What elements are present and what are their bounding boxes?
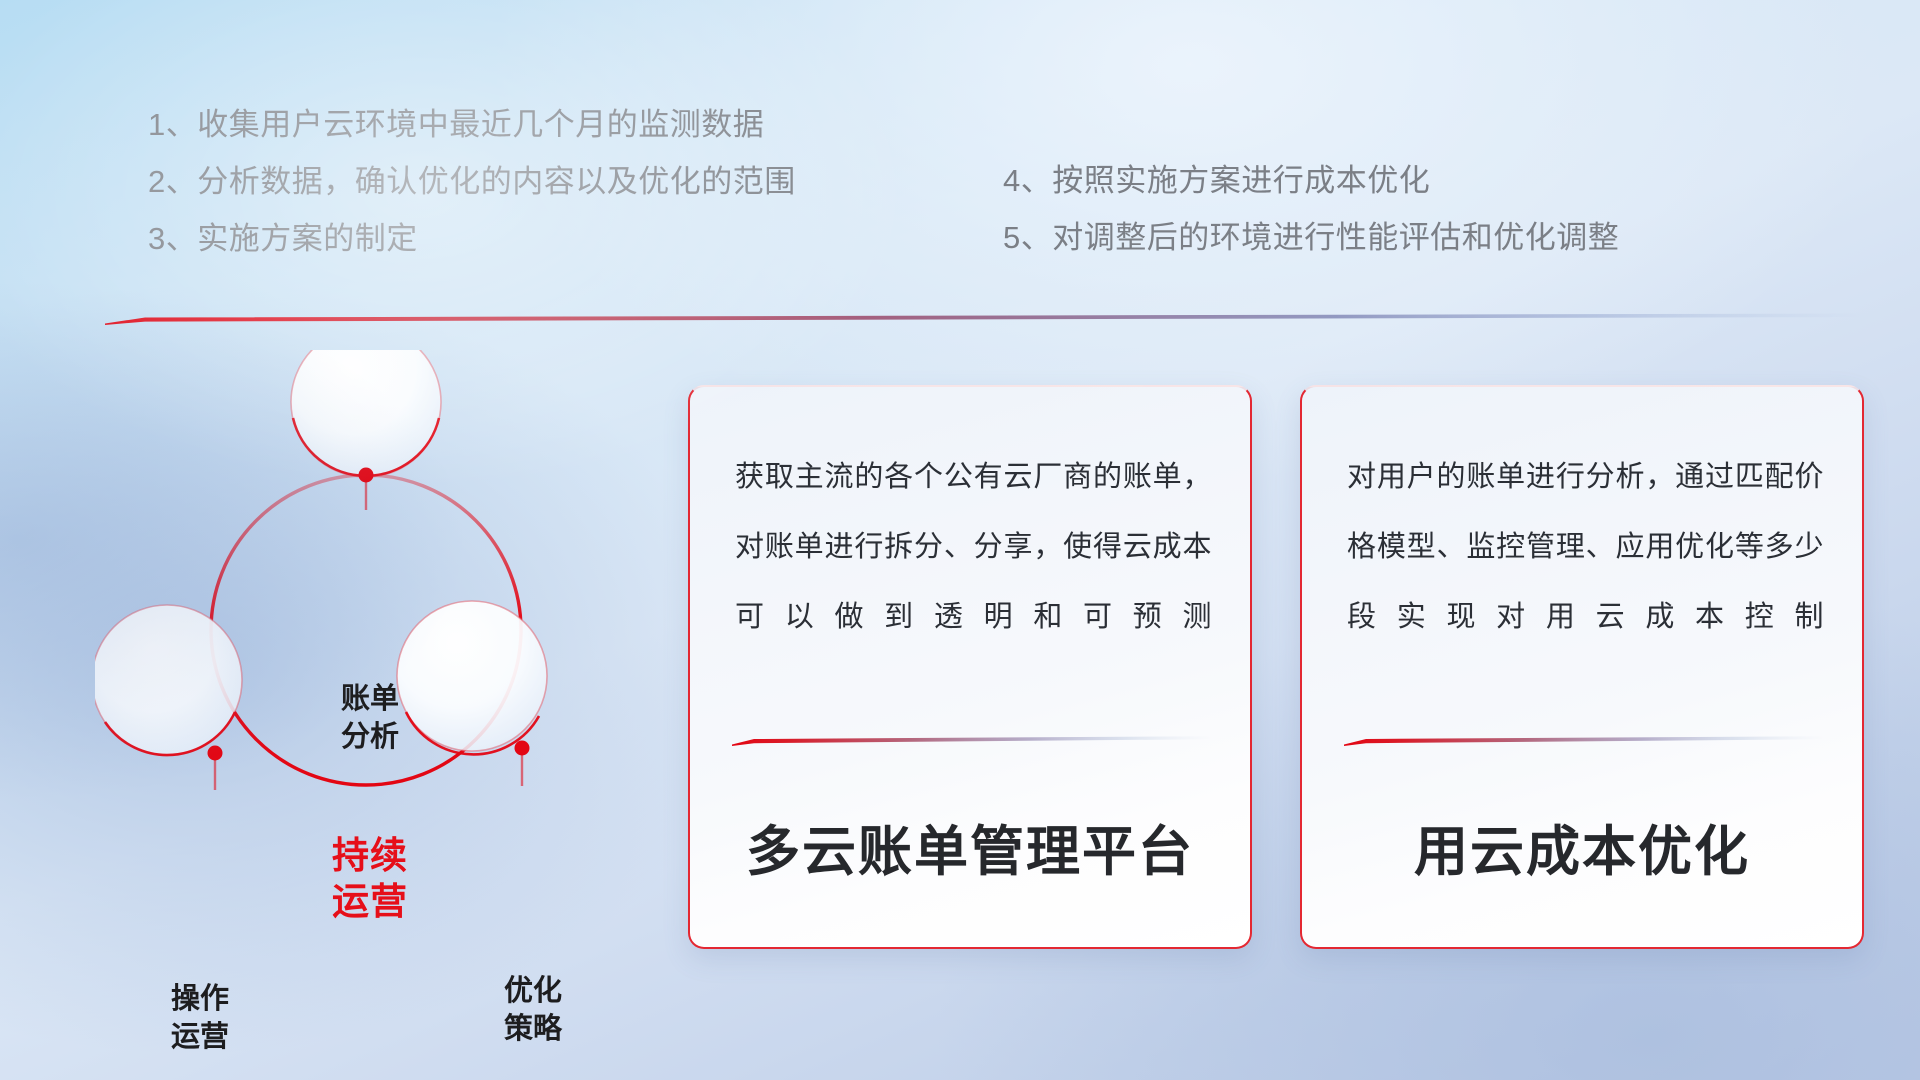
node-dot-top bbox=[359, 468, 374, 483]
bubble-label-ops-operation: 操作 运营 bbox=[125, 980, 275, 1056]
step-item-4: 4、按照实施方案进行成本优化 bbox=[1003, 152, 1619, 209]
card-body-text: 获取主流的各个公有云厂商的账单，对账单进行拆分、分享，使得云成本可以做到透明和可… bbox=[735, 442, 1212, 652]
slide-canvas: 1、收集用户云环境中最近几个月的监测数据 2、分析数据，确认优化的内容以及优化的… bbox=[0, 0, 1920, 1080]
bubble-label-opt-strategy: 优化 策略 bbox=[458, 972, 608, 1048]
card-divider bbox=[1344, 735, 1826, 746]
card-divider bbox=[732, 735, 1214, 746]
bubble-label-bill-analysis-line1: 账单 bbox=[295, 680, 445, 718]
diagram-center-label: 持续 运营 bbox=[270, 833, 470, 925]
node-dot-right bbox=[515, 741, 530, 756]
step-item-3: 3、实施方案的制定 bbox=[148, 210, 796, 267]
card-title: 多云账单管理平台 bbox=[690, 807, 1250, 886]
node-dot-left bbox=[208, 746, 223, 761]
bubble-label-ops-operation-line2: 运营 bbox=[125, 1018, 275, 1056]
step-item-2: 2、分析数据，确认优化的内容以及优化的范围 bbox=[148, 153, 796, 210]
bubble-label-opt-strategy-line1: 优化 bbox=[458, 972, 608, 1010]
steps-left-column: 1、收集用户云环境中最近几个月的监测数据 2、分析数据，确认优化的内容以及优化的… bbox=[148, 96, 796, 267]
card-multi-cloud-billing-platform[interactable]: 获取主流的各个公有云厂商的账单，对账单进行拆分、分享，使得云成本可以做到透明和可… bbox=[688, 385, 1252, 949]
steps-right-column: 4、按照实施方案进行成本优化 5、对调整后的环境进行性能评估和优化调整 bbox=[1003, 152, 1619, 266]
card-body-text: 对用户的账单进行分析，通过匹配价格模型、监控管理、应用优化等多少段实现对用云成本… bbox=[1347, 442, 1824, 652]
card-title: 用云成本优化 bbox=[1302, 807, 1862, 886]
diagram-center-label-line2: 运营 bbox=[270, 879, 470, 925]
step-item-5: 5、对调整后的环境进行性能评估和优化调整 bbox=[1003, 209, 1619, 266]
bubble-label-bill-analysis: 账单 分析 bbox=[295, 680, 445, 756]
continuous-operations-diagram: 账单 分析 操作 运营 优化 策略 持续 运营 bbox=[95, 350, 635, 920]
diagram-center-label-line1: 持续 bbox=[270, 833, 470, 879]
card-cloud-cost-optimization[interactable]: 对用户的账单进行分析，通过匹配价格模型、监控管理、应用优化等多少段实现对用云成本… bbox=[1300, 385, 1864, 949]
header-divider bbox=[105, 312, 1865, 325]
bubble-label-opt-strategy-line2: 策略 bbox=[458, 1010, 608, 1048]
bubble-bill-analysis[interactable] bbox=[291, 350, 441, 477]
bubble-label-bill-analysis-line2: 分析 bbox=[295, 718, 445, 756]
step-item-1: 1、收集用户云环境中最近几个月的监测数据 bbox=[148, 96, 796, 153]
bubble-label-ops-operation-line1: 操作 bbox=[125, 980, 275, 1018]
